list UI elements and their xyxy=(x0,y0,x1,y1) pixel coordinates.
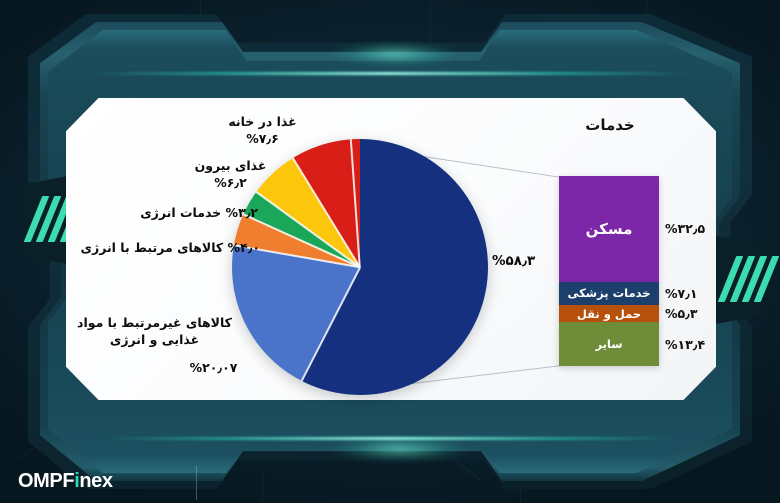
right-chevron-stripes-icon xyxy=(727,256,770,302)
pie-callout-food-at-home: غذا در خانه %۷٫۶ xyxy=(205,114,320,148)
logo-divider xyxy=(196,466,197,500)
pie-callout-food-away: غذای بیرون %۶٫۲ xyxy=(178,158,283,192)
bg-seam xyxy=(430,0,431,42)
stacked-bar-segment-label: مسکن xyxy=(586,220,633,238)
stacked-bar-segment-1[interactable]: مسکن%۳۲٫۵ xyxy=(559,176,659,282)
bottom-glow-blob xyxy=(330,436,470,462)
stacked-bar-segment-label: خدمات پزشکی xyxy=(567,286,650,300)
stacked-bar-segment-label: سایر xyxy=(595,337,622,351)
pie-callout-energy-commodity: %۴٫۰ کالاهای مرتبط با انرژی xyxy=(55,240,260,257)
stacked-bar-segment-4[interactable]: سایر%۱۳٫۴ xyxy=(559,322,659,366)
stacked-bar-segment-percent: %۷٫۱ xyxy=(665,286,697,301)
top-glow-blob xyxy=(330,42,460,66)
stacked-bar-chart: مسکن%۳۲٫۵خدمات پزشکی%۷٫۱حمل و نقل%۵٫۳سای… xyxy=(559,176,659,366)
pie-callout-energy-services: %۳٫۲ خدمات انرژی xyxy=(118,205,258,222)
bg-seam xyxy=(262,470,263,503)
stacked-bar-title: خدمات xyxy=(540,116,680,134)
pie-callout-core-commodities: کالاهای غیرمرتبط با مواد غذایی و انرژی xyxy=(62,315,247,349)
stacked-bar-segment-percent: %۵٫۳ xyxy=(665,306,697,321)
stacked-bar-segment-percent: %۱۳٫۴ xyxy=(665,337,705,352)
stacked-bar-segment-percent: %۳۲٫۵ xyxy=(665,221,705,236)
stacked-bar-segment-label: حمل و نقل xyxy=(577,307,641,321)
brand-logo: OMPFinex xyxy=(18,470,113,493)
pie-callout-core-commodities-pct: %۲۰٫۰۷ xyxy=(176,360,251,377)
stacked-bar-segment-3[interactable]: حمل و نقل%۵٫۳ xyxy=(559,305,659,322)
brand-logo-part1: OMPF xyxy=(18,470,74,492)
stacked-bar-segment-2[interactable]: خدمات پزشکی%۷٫۱ xyxy=(559,282,659,305)
infographic-canvas: %۵۸٫۳ غذا در خانه %۷٫۶غذای بیرون %۶٫۲%۳٫… xyxy=(0,0,780,503)
brand-logo-part2: nex xyxy=(79,470,112,492)
top-glow-accent xyxy=(90,72,690,75)
pie-label-services-pct: %۵۸٫۳ xyxy=(492,253,535,269)
